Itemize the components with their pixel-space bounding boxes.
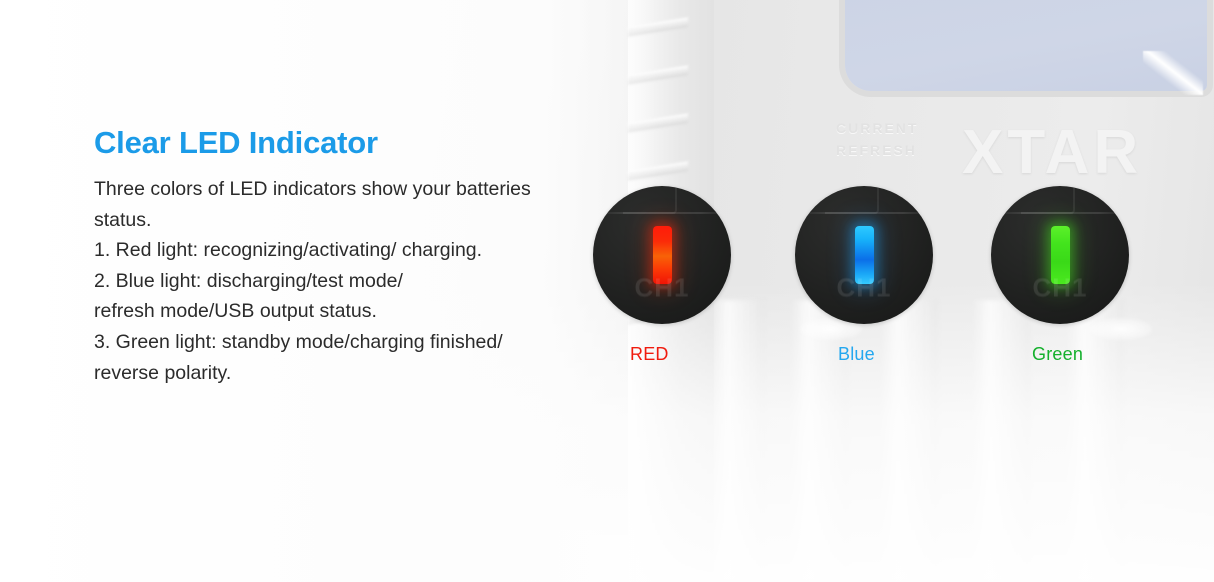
led-housing-circle: CH1: [593, 186, 731, 324]
housing-seam-notch: [623, 186, 677, 214]
led-caption-red: RED: [630, 344, 669, 365]
led-caption-green: Green: [1032, 344, 1083, 365]
led-caption-blue: Blue: [838, 344, 875, 365]
led-housing-circle: CH1: [991, 186, 1129, 324]
silkscreen-current-label: CURRENT: [836, 120, 918, 136]
led-housing-circle: CH1: [795, 186, 933, 324]
body-line-3: 1. Red light: recognizing/activating/ ch…: [94, 235, 564, 266]
led-indicator-red: CH1: [593, 186, 731, 324]
body-line-5: refresh mode/USB output status.: [94, 296, 564, 327]
led-indicator-blue: CH1: [795, 186, 933, 324]
channel-label-engraving: CH1: [991, 272, 1129, 303]
body-line-4: 2. Blue light: discharging/test mode/: [94, 266, 564, 297]
feature-copy-block: Clear LED Indicator Three colors of LED …: [94, 126, 564, 388]
body-line-1: Three colors of LED indicators show your…: [94, 174, 564, 205]
charger-lcd-screen: [845, 0, 1207, 91]
housing-seam-notch: [825, 186, 879, 214]
led-indicator-green: CH1: [991, 186, 1129, 324]
page-title: Clear LED Indicator: [94, 126, 564, 160]
channel-label-engraving: CH1: [795, 272, 933, 303]
xtar-brand-watermark: XTAR: [962, 122, 1142, 184]
led-indicator-feature-panel: CURRENT REFRESH XTAR Clear LED Indicator…: [0, 0, 1214, 582]
silkscreen-refresh-label: REFRESH: [836, 142, 917, 158]
housing-seam-notch: [1021, 186, 1075, 214]
body-line-6: 3. Green light: standby mode/charging fi…: [94, 327, 564, 358]
body-line-7: reverse polarity.: [94, 358, 564, 389]
lcd-glare-highlight: [1143, 51, 1203, 95]
channel-label-engraving: CH1: [593, 272, 731, 303]
body-line-2: status.: [94, 205, 564, 236]
